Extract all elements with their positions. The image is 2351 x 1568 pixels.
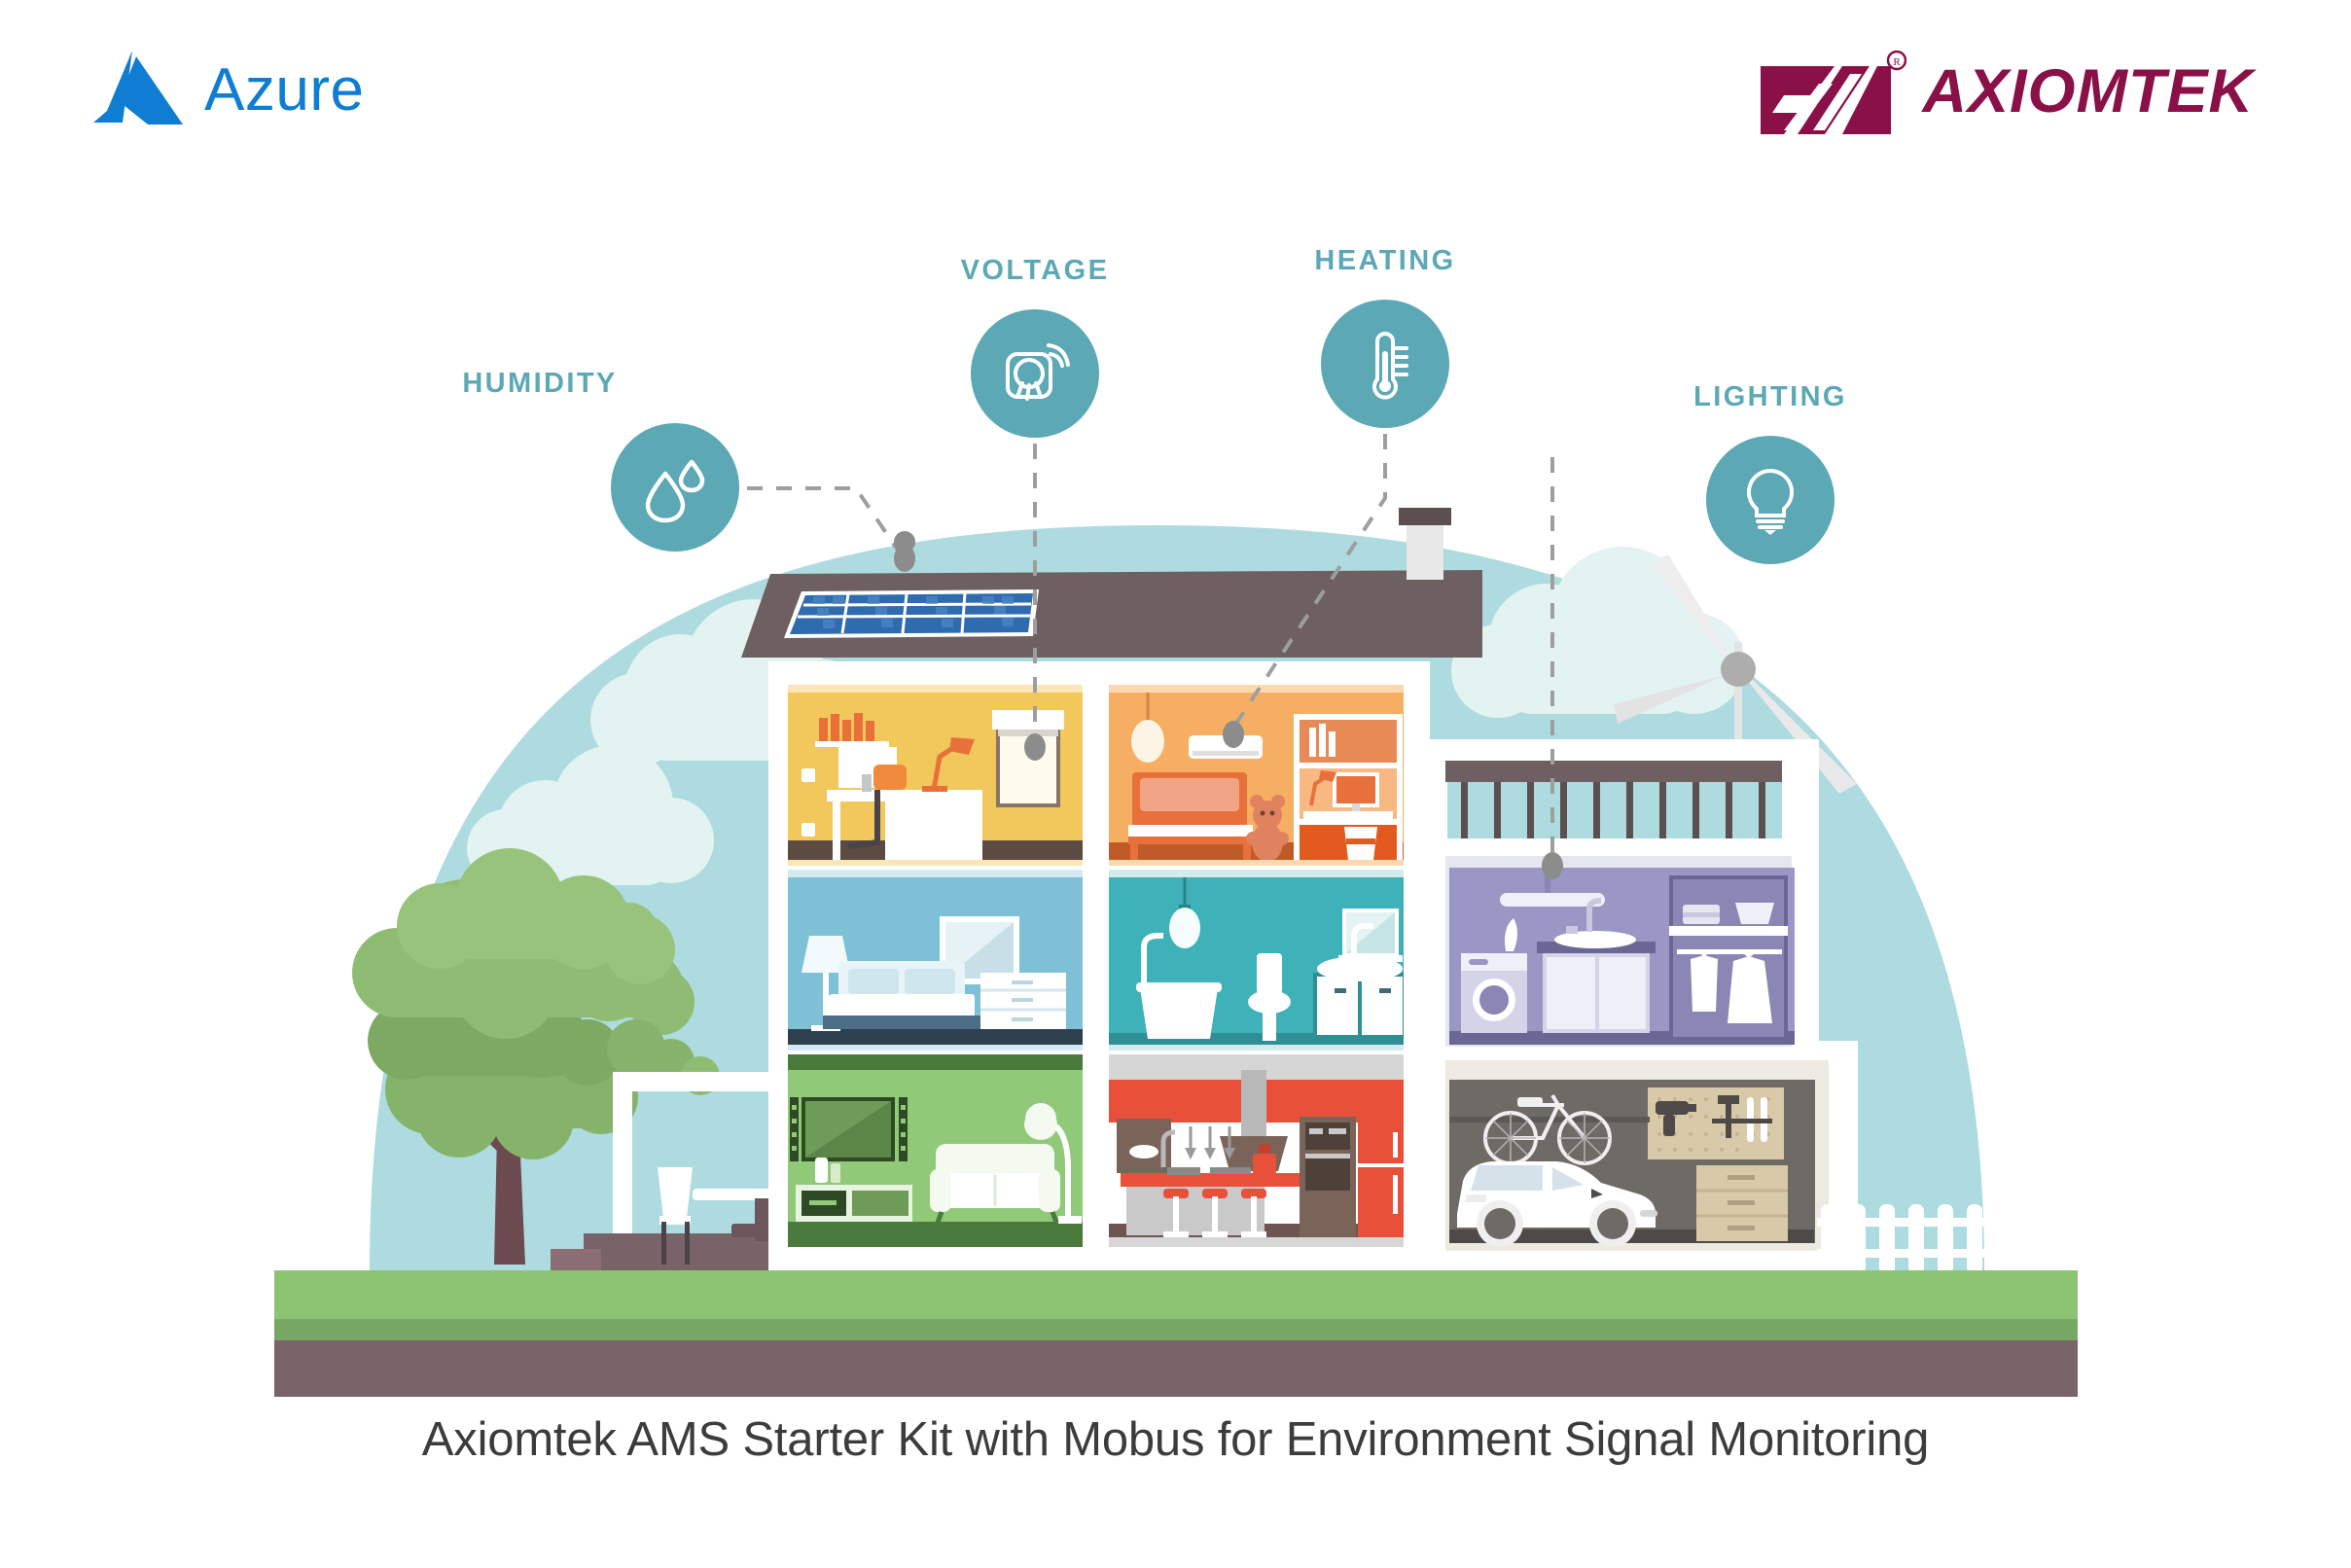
azure-wordmark: Azure: [204, 60, 364, 121]
room-bathroom: [1109, 870, 1405, 1051]
axiomtek-mark-icon: R: [1761, 45, 1906, 139]
light-bulb-icon: [1731, 461, 1809, 539]
room-home-office: [788, 685, 1083, 866]
callout-label-voltage: VOLTAGE: [961, 255, 1110, 287]
water-drop-icon: [636, 448, 714, 526]
callout-icon-heating[interactable]: [1321, 300, 1449, 428]
azure-logo: Azure: [93, 47, 364, 133]
thermometer-icon: [1346, 325, 1424, 403]
room-kids-bedroom: [1109, 685, 1404, 866]
callout-label-heating: HEATING: [1314, 245, 1455, 277]
sensor-dot-voltage: [1024, 733, 1046, 761]
smart-meter-wifi-icon: [996, 335, 1074, 412]
room-master-bedroom: [788, 870, 1083, 1051]
lawn-dark: [274, 1319, 2078, 1340]
azure-triangle-logo-icon: [93, 47, 183, 133]
svg-text:R: R: [1894, 56, 1902, 68]
room-laundry: [1445, 856, 1795, 1047]
room-garage: [1445, 1060, 1829, 1251]
chimney: [1407, 517, 1443, 580]
sensor-dot-lighting: [1542, 852, 1563, 879]
page-caption: Axiomtek AMS Starter Kit with Mobus for …: [0, 1412, 2351, 1467]
callout-icon-voltage[interactable]: [971, 309, 1099, 438]
axiomtek-wordmark: AXIOMTEK: [1922, 61, 2254, 123]
callout-label-lighting: LIGHTING: [1693, 381, 1847, 413]
soil-band: [274, 1340, 2078, 1397]
room-kitchen: [1109, 1054, 1405, 1247]
bar-stool-group: [1163, 1189, 1266, 1237]
smart-home-illustration: [0, 0, 2351, 1568]
callout-label-humidity: HUMIDITY: [462, 368, 617, 400]
axiomtek-logo: R AXIOMTEK: [1761, 45, 2254, 139]
sensor-dot-heating: [1223, 721, 1244, 748]
bedroom-floor: [788, 1029, 1083, 1045]
chimney-cap: [1399, 508, 1451, 525]
solar-panel-icon: [784, 589, 1039, 638]
callout-icon-lighting[interactable]: [1706, 436, 1834, 564]
room-living-room: [788, 1054, 1083, 1247]
ground: [274, 1270, 2078, 1397]
infographic-canvas: Azure R AXIOMTEK HUMIDITY: [0, 0, 2351, 1568]
callout-icon-humidity[interactable]: [611, 423, 739, 552]
